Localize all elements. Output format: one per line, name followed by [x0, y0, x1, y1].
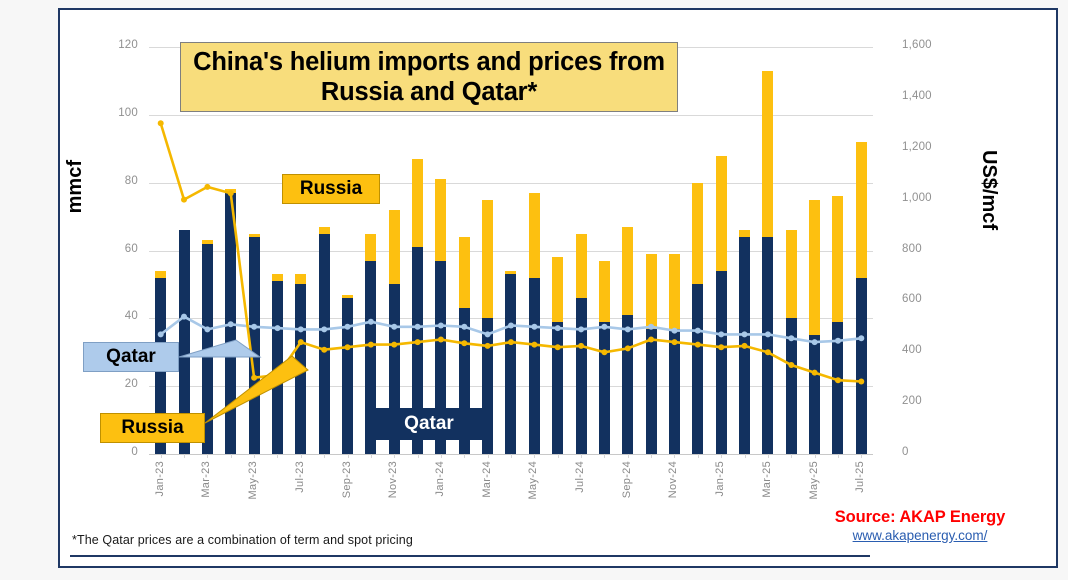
right-axis-tick-label: 200 [902, 395, 962, 407]
price-marker [438, 337, 444, 343]
price-marker [695, 328, 701, 334]
right-axis-tick-label: 1,600 [902, 39, 962, 51]
price-marker [695, 342, 701, 348]
x-axis-tickmark [394, 454, 395, 458]
x-axis-tickmark [651, 454, 652, 458]
price-marker [672, 339, 678, 345]
x-axis-tickmark [277, 454, 278, 458]
price-marker [788, 362, 794, 368]
price-marker [508, 339, 514, 345]
x-axis-tickmark [231, 454, 232, 458]
x-axis-tick-label: May-24 [527, 461, 539, 499]
price-marker [765, 349, 771, 355]
chart-plot-area: mmcf US$/mcf 020406080100120 02004006008… [60, 10, 1060, 570]
x-axis-tick-label: Mar-24 [481, 461, 493, 498]
price-marker [438, 323, 444, 329]
x-axis-tick-label: Jul-23 [294, 461, 306, 493]
price-marker [555, 325, 561, 331]
x-axis-tickmark [815, 454, 816, 458]
price-marker [742, 343, 748, 349]
x-axis-tickmark [721, 454, 722, 458]
price-marker [485, 343, 491, 349]
x-axis-tickmark [418, 454, 419, 458]
x-axis-tickmark [604, 454, 605, 458]
price-marker [858, 335, 864, 341]
price-marker [204, 326, 210, 332]
x-axis-tick-label: Jan-23 [154, 461, 166, 496]
price-marker [158, 120, 164, 126]
left-axis-tick-label: 120 [92, 39, 138, 51]
left-axis-tick-label: 60 [92, 243, 138, 255]
x-axis-tickmark [161, 454, 162, 458]
x-axis-tick-label: Jan-25 [714, 461, 726, 496]
left-axis-title: mmcf [64, 160, 104, 213]
price-marker [368, 342, 374, 348]
left-axis-tick-label: 20 [92, 378, 138, 390]
x-axis-tickmark [674, 454, 675, 458]
price-marker [835, 377, 841, 383]
x-axis-tick-label: Jul-25 [854, 461, 866, 493]
price-marker [742, 331, 748, 337]
x-axis-tick-label: Jul-24 [574, 461, 586, 493]
x-axis-tickmark [441, 454, 442, 458]
right-axis-tick-label: 1,400 [902, 90, 962, 102]
x-axis-tickmark [628, 454, 629, 458]
x-axis-tickmark [464, 454, 465, 458]
x-axis-tickmark [768, 454, 769, 458]
price-marker [601, 324, 607, 330]
x-axis-tick-label: Nov-24 [667, 461, 679, 498]
price-marker [321, 347, 327, 353]
price-marker [648, 337, 654, 343]
x-axis-tickmark [745, 454, 746, 458]
price-marker [555, 344, 561, 350]
chart-frame: mmcf US$/mcf 020406080100120 02004006008… [58, 8, 1058, 568]
source-block: Source: AKAP Energy www.akapenergy.com/ [790, 508, 1050, 543]
annotation-qatar-bars: Qatar [370, 408, 488, 440]
right-axis-tick-label: 0 [902, 446, 962, 458]
right-axis-title: US$/mcf [960, 150, 1000, 230]
x-axis-tickmark [324, 454, 325, 458]
x-axis-tickmark [488, 454, 489, 458]
annotation-russia-price: Russia [100, 413, 205, 443]
left-axis-tick-label: 80 [92, 175, 138, 187]
right-axis-tick-label: 800 [902, 243, 962, 255]
price-marker [718, 344, 724, 350]
price-marker [672, 328, 678, 334]
right-axis-tick-label: 1,000 [902, 192, 962, 204]
right-axis-tick-label: 600 [902, 293, 962, 305]
price-marker [345, 324, 351, 330]
price-marker [415, 339, 421, 345]
russia-price-markers [158, 120, 865, 384]
x-axis-tick-label: Jan-24 [434, 461, 446, 496]
annotation-russia-bars: Russia [282, 174, 380, 204]
x-axis-tick-label: Sep-24 [621, 461, 633, 498]
price-marker [275, 325, 281, 331]
price-marker [461, 340, 467, 346]
price-marker [181, 314, 187, 320]
price-marker [228, 190, 234, 196]
price-marker [275, 372, 281, 378]
price-marker [228, 321, 234, 327]
left-axis-tick-label: 40 [92, 310, 138, 322]
x-axis-tickmark [838, 454, 839, 458]
price-marker [578, 343, 584, 349]
price-marker [788, 335, 794, 341]
source-link[interactable]: www.akapenergy.com/ [790, 528, 1050, 543]
price-marker [625, 345, 631, 351]
x-axis-tickmark [348, 454, 349, 458]
left-axis-tick-label: 0 [92, 446, 138, 458]
x-axis-tick-label: Sep-23 [341, 461, 353, 498]
price-marker [321, 326, 327, 332]
price-marker [765, 331, 771, 337]
price-marker [718, 331, 724, 337]
x-axis-tick-label: May-25 [808, 461, 820, 499]
price-marker [835, 338, 841, 344]
x-axis-tickmark [558, 454, 559, 458]
price-marker [204, 184, 210, 190]
price-marker [158, 331, 164, 337]
x-axis-tickmark [581, 454, 582, 458]
price-marker [578, 326, 584, 332]
right-axis-tick-label: 400 [902, 344, 962, 356]
price-marker [415, 324, 421, 330]
qatar-price-line [161, 317, 862, 343]
annotation-qatar-price: Qatar [83, 342, 179, 372]
price-marker [368, 319, 374, 325]
price-marker [812, 339, 818, 345]
price-marker [345, 344, 351, 350]
price-marker [298, 339, 304, 345]
price-marker [858, 379, 864, 385]
x-axis-tickmark [511, 454, 512, 458]
price-marker [251, 324, 257, 330]
price-marker [812, 370, 818, 376]
x-axis-tick-label: May-23 [247, 461, 259, 499]
price-marker [251, 375, 257, 381]
price-marker [601, 349, 607, 355]
x-axis-tick-label: Mar-25 [761, 461, 773, 498]
price-marker [298, 326, 304, 332]
right-axis-tick-label: 1,200 [902, 141, 962, 153]
x-axis-tick-label: Mar-23 [200, 461, 212, 498]
x-axis-tickmark [371, 454, 372, 458]
price-marker [391, 324, 397, 330]
footnote-divider [70, 555, 870, 557]
price-marker [648, 324, 654, 330]
left-axis-tick-label: 100 [92, 107, 138, 119]
x-axis-tickmark [791, 454, 792, 458]
x-axis-tickmark [207, 454, 208, 458]
x-axis-tickmark [254, 454, 255, 458]
x-axis-tick-label: Nov-23 [387, 461, 399, 498]
x-axis-tickmark [861, 454, 862, 458]
price-marker [508, 323, 514, 329]
price-marker [181, 197, 187, 203]
price-marker [625, 326, 631, 332]
price-marker [461, 324, 467, 330]
footnote: *The Qatar prices are a combination of t… [72, 533, 413, 547]
source-label: Source: AKAP Energy [790, 508, 1050, 527]
chart-title: China's helium imports and prices from R… [180, 42, 678, 112]
x-axis-tickmark [698, 454, 699, 458]
x-axis-tickmark [184, 454, 185, 458]
price-marker [391, 342, 397, 348]
price-marker [531, 342, 537, 348]
price-marker [485, 331, 491, 337]
price-marker [531, 324, 537, 330]
x-axis-tickmark [301, 454, 302, 458]
x-axis-tickmark [534, 454, 535, 458]
